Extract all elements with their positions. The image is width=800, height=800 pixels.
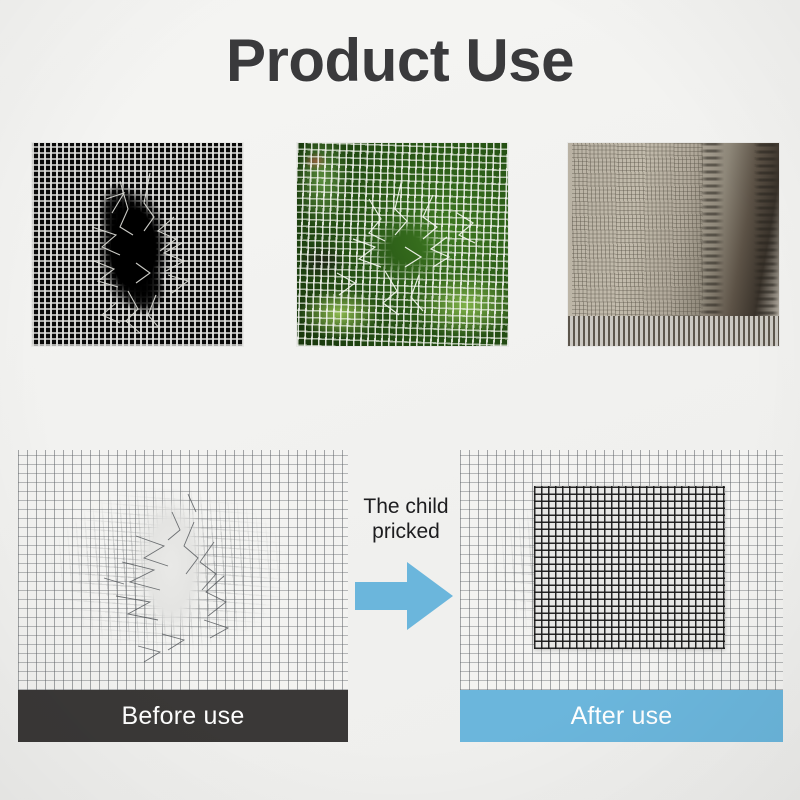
- damage-photo-child-pricked: [297, 143, 508, 346]
- page-title: Product Use: [0, 28, 800, 94]
- after-use-panel: After use: [460, 450, 783, 742]
- damage-photo-aging: [568, 143, 779, 346]
- before-use-label-bar: Before use: [18, 690, 348, 742]
- product-use-infographic: Product Use: [0, 0, 800, 800]
- before-use-photo: [18, 450, 348, 690]
- repair-patch: [534, 486, 725, 649]
- before-use-panel: Before use: [18, 450, 348, 742]
- aged-frame-strip: [568, 316, 779, 346]
- after-use-photo: [460, 450, 783, 690]
- damage-examples-row: Rat bite The child pricked Aging damage: [32, 143, 772, 348]
- transition-arrow: [355, 558, 453, 634]
- white-mesh-texture: [297, 143, 508, 346]
- after-use-label: After use: [571, 702, 673, 731]
- before-use-label: Before use: [122, 702, 245, 731]
- damage-photo-rat-bite: [32, 143, 243, 346]
- arrow-right-icon: [355, 558, 453, 634]
- after-use-label-bar: After use: [460, 690, 783, 742]
- dark-mesh-texture: [32, 143, 243, 346]
